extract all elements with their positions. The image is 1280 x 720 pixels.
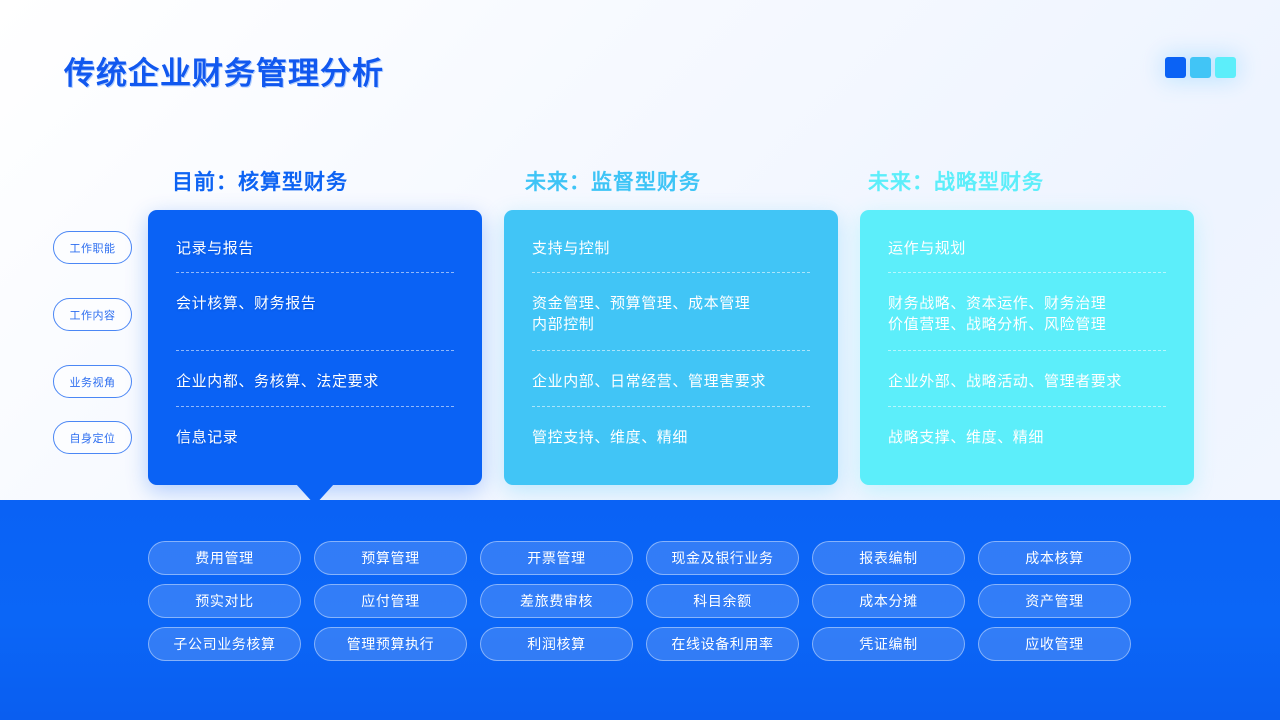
card-divider	[176, 350, 454, 351]
tag-item[interactable]: 成本核算	[978, 541, 1131, 575]
card-divider	[888, 272, 1166, 273]
tag-item[interactable]: 预算管理	[314, 541, 467, 575]
tag-item[interactable]: 差旅费审核	[480, 584, 633, 618]
row-label-business-view: 业务视角	[53, 365, 132, 398]
card-row-self-position: 战略支撑、维度、精细	[888, 427, 1166, 448]
tag-item[interactable]: 管理预算执行	[314, 627, 467, 661]
card-future-strategic-finance[interactable]: 运作与规划 财务战略、资本运作、财务治理 价值营理、战略分析、风险管理 企业外部…	[860, 210, 1194, 485]
card-future-supervisory-finance[interactable]: 支持与控制 资金管理、预算管理、成本管理 内部控制 企业内部、日常经营、管理害要…	[504, 210, 838, 485]
card-divider	[176, 272, 454, 273]
row-label-self-position: 自身定位	[53, 421, 132, 454]
card-row-business-view: 企业内部、日常经营、管理害要求	[532, 371, 810, 392]
tag-item[interactable]: 现金及银行业务	[646, 541, 799, 575]
card-divider	[888, 406, 1166, 407]
card-row-self-position: 信息记录	[176, 427, 454, 448]
tag-grid: 费用管理 预算管理 开票管理 现金及银行业务 报表编制 成本核算 预实对比 应付…	[148, 541, 1131, 661]
tag-item[interactable]: 利润核算	[480, 627, 633, 661]
decoration-squares	[1165, 57, 1236, 78]
card-rows: 运作与规划 财务战略、资本运作、财务治理 价值营理、战略分析、风险管理 企业外部…	[888, 210, 1166, 485]
tag-item[interactable]: 应付管理	[314, 584, 467, 618]
card-rows: 支持与控制 资金管理、预算管理、成本管理 内部控制 企业内部、日常经营、管理害要…	[532, 210, 810, 485]
tag-item[interactable]: 子公司业务核算	[148, 627, 301, 661]
card-row-job-function: 支持与控制	[532, 238, 810, 259]
card-divider	[888, 350, 1166, 351]
card-divider	[176, 406, 454, 407]
bottom-capability-panel: 费用管理 预算管理 开票管理 现金及银行业务 报表编制 成本核算 预实对比 应付…	[0, 500, 1280, 720]
card-divider	[532, 350, 810, 351]
square-light-cyan-icon	[1215, 57, 1236, 78]
tag-item[interactable]: 资产管理	[978, 584, 1131, 618]
card-row-job-content: 资金管理、预算管理、成本管理 内部控制	[532, 293, 810, 335]
tag-item[interactable]: 凭证编制	[812, 627, 965, 661]
column-heading-future-supervisory: 未来：监督型财务	[525, 166, 701, 196]
tag-item[interactable]: 科目余额	[646, 584, 799, 618]
card-row-job-function: 运作与规划	[888, 238, 1166, 259]
column-heading-future-strategic: 未来：战略型财务	[868, 166, 1044, 196]
card-row-job-content: 会计核算、财务报告	[176, 293, 454, 314]
card-row-job-content: 财务战略、资本运作、财务治理 价值营理、战略分析、风险管理	[888, 293, 1166, 335]
row-label-job-function: 工作职能	[53, 231, 132, 264]
tag-item[interactable]: 预实对比	[148, 584, 301, 618]
tag-item[interactable]: 成本分摊	[812, 584, 965, 618]
card-row-business-view: 企业内都、务核算、法定要求	[176, 371, 454, 392]
page-title: 传统企业财务管理分析	[64, 48, 384, 93]
card-divider	[532, 272, 810, 273]
card-current-accounting-finance[interactable]: 记录与报告 会计核算、财务报告 企业内都、务核算、法定要求 信息记录	[148, 210, 482, 485]
card-divider	[532, 406, 810, 407]
column-heading-current: 目前：核算型财务	[172, 166, 348, 196]
square-mid-blue-icon	[1190, 57, 1211, 78]
tag-item[interactable]: 在线设备利用率	[646, 627, 799, 661]
tag-item[interactable]: 应收管理	[978, 627, 1131, 661]
card-row-business-view: 企业外部、战略活动、管理者要求	[888, 371, 1166, 392]
card-rows: 记录与报告 会计核算、财务报告 企业内都、务核算、法定要求 信息记录	[176, 210, 454, 485]
card-row-job-function: 记录与报告	[176, 238, 454, 259]
row-label-job-content: 工作内容	[53, 298, 132, 331]
tag-item[interactable]: 费用管理	[148, 541, 301, 575]
card-row-self-position: 管控支持、维度、精细	[532, 427, 810, 448]
tag-item[interactable]: 报表编制	[812, 541, 965, 575]
tag-item[interactable]: 开票管理	[480, 541, 633, 575]
square-dark-blue-icon	[1165, 57, 1186, 78]
